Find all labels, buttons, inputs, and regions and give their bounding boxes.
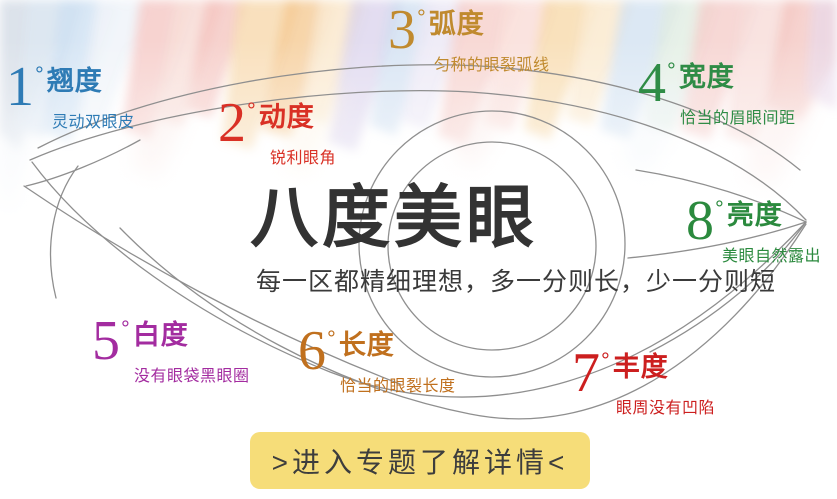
point-7-heading: 7 ° 丰度 xyxy=(572,348,715,400)
point-1-description: 灵动双眼皮 xyxy=(52,108,135,132)
point-4-description: 恰当的眉眼间距 xyxy=(680,104,796,128)
point-1-number: 1 xyxy=(6,62,34,114)
enter-topic-button[interactable]: >进入专题了解详情< xyxy=(250,432,590,489)
point-4: 4 ° 宽度 恰当的眉眼间距 xyxy=(638,58,796,128)
degree-symbol-icon: ° xyxy=(715,198,724,220)
point-3-keyword: 弧度 xyxy=(429,11,485,38)
point-2-number: 2 xyxy=(218,98,246,150)
point-8-heading: 8 ° 亮度 xyxy=(686,196,821,248)
point-5: 5 ° 白度 没有眼袋黑眼圈 xyxy=(92,316,250,386)
degree-symbol-icon: ° xyxy=(35,64,44,86)
degree-symbol-icon: ° xyxy=(417,7,426,29)
eye-beauty-poster: 八度美眼 每一区都精细理想，多一分则长，少一分则短 1 ° 翘度 灵动双眼皮 2… xyxy=(0,0,837,499)
point-7-description: 眼周没有凹陷 xyxy=(616,394,715,418)
degree-symbol-icon: ° xyxy=(121,318,130,340)
degree-symbol-icon: ° xyxy=(327,328,336,350)
degree-symbol-icon: ° xyxy=(247,100,256,122)
point-6-description: 恰当的眼裂长度 xyxy=(340,372,456,396)
point-6-keyword: 长度 xyxy=(339,332,395,359)
point-1-heading: 1 ° 翘度 xyxy=(6,62,135,114)
point-6-heading: 6 ° 长度 xyxy=(298,326,456,378)
point-5-keyword: 白度 xyxy=(133,322,189,349)
point-5-number: 5 xyxy=(92,316,120,368)
point-8-number: 8 xyxy=(686,196,714,248)
point-2-description: 锐利眼角 xyxy=(270,144,336,168)
point-3-heading: 3 ° 弧度 xyxy=(388,5,550,57)
point-6: 6 ° 长度 恰当的眼裂长度 xyxy=(298,326,456,396)
point-3-description: 匀称的眼裂弧线 xyxy=(434,51,550,75)
point-5-heading: 5 ° 白度 xyxy=(92,316,250,368)
point-8: 8 ° 亮度 美眼自然露出 xyxy=(686,196,821,266)
point-7-number: 7 xyxy=(572,348,600,400)
point-3: 3 ° 弧度 匀称的眼裂弧线 xyxy=(388,5,550,75)
point-3-number: 3 xyxy=(388,5,416,57)
point-8-keyword: 亮度 xyxy=(727,202,783,229)
point-1: 1 ° 翘度 灵动双眼皮 xyxy=(6,62,135,132)
point-4-heading: 4 ° 宽度 xyxy=(638,58,796,110)
point-2-heading: 2 ° 动度 xyxy=(218,98,336,150)
point-6-number: 6 xyxy=(298,326,326,378)
point-7: 7 ° 丰度 眼周没有凹陷 xyxy=(572,348,715,418)
degree-symbol-icon: ° xyxy=(601,350,610,372)
point-2: 2 ° 动度 锐利眼角 xyxy=(218,98,336,168)
point-4-number: 4 xyxy=(638,58,666,110)
point-5-description: 没有眼袋黑眼圈 xyxy=(134,362,250,386)
point-1-keyword: 翘度 xyxy=(47,68,103,95)
degree-symbol-icon: ° xyxy=(667,60,676,82)
point-8-description: 美眼自然露出 xyxy=(722,242,821,266)
point-2-keyword: 动度 xyxy=(259,104,315,131)
enter-topic-button-label: >进入专题了解详情< xyxy=(272,441,569,481)
page-subtitle: 每一区都精细理想，多一分则长，少一分则短 xyxy=(256,262,790,298)
point-4-keyword: 宽度 xyxy=(679,64,735,91)
point-7-keyword: 丰度 xyxy=(613,354,669,381)
